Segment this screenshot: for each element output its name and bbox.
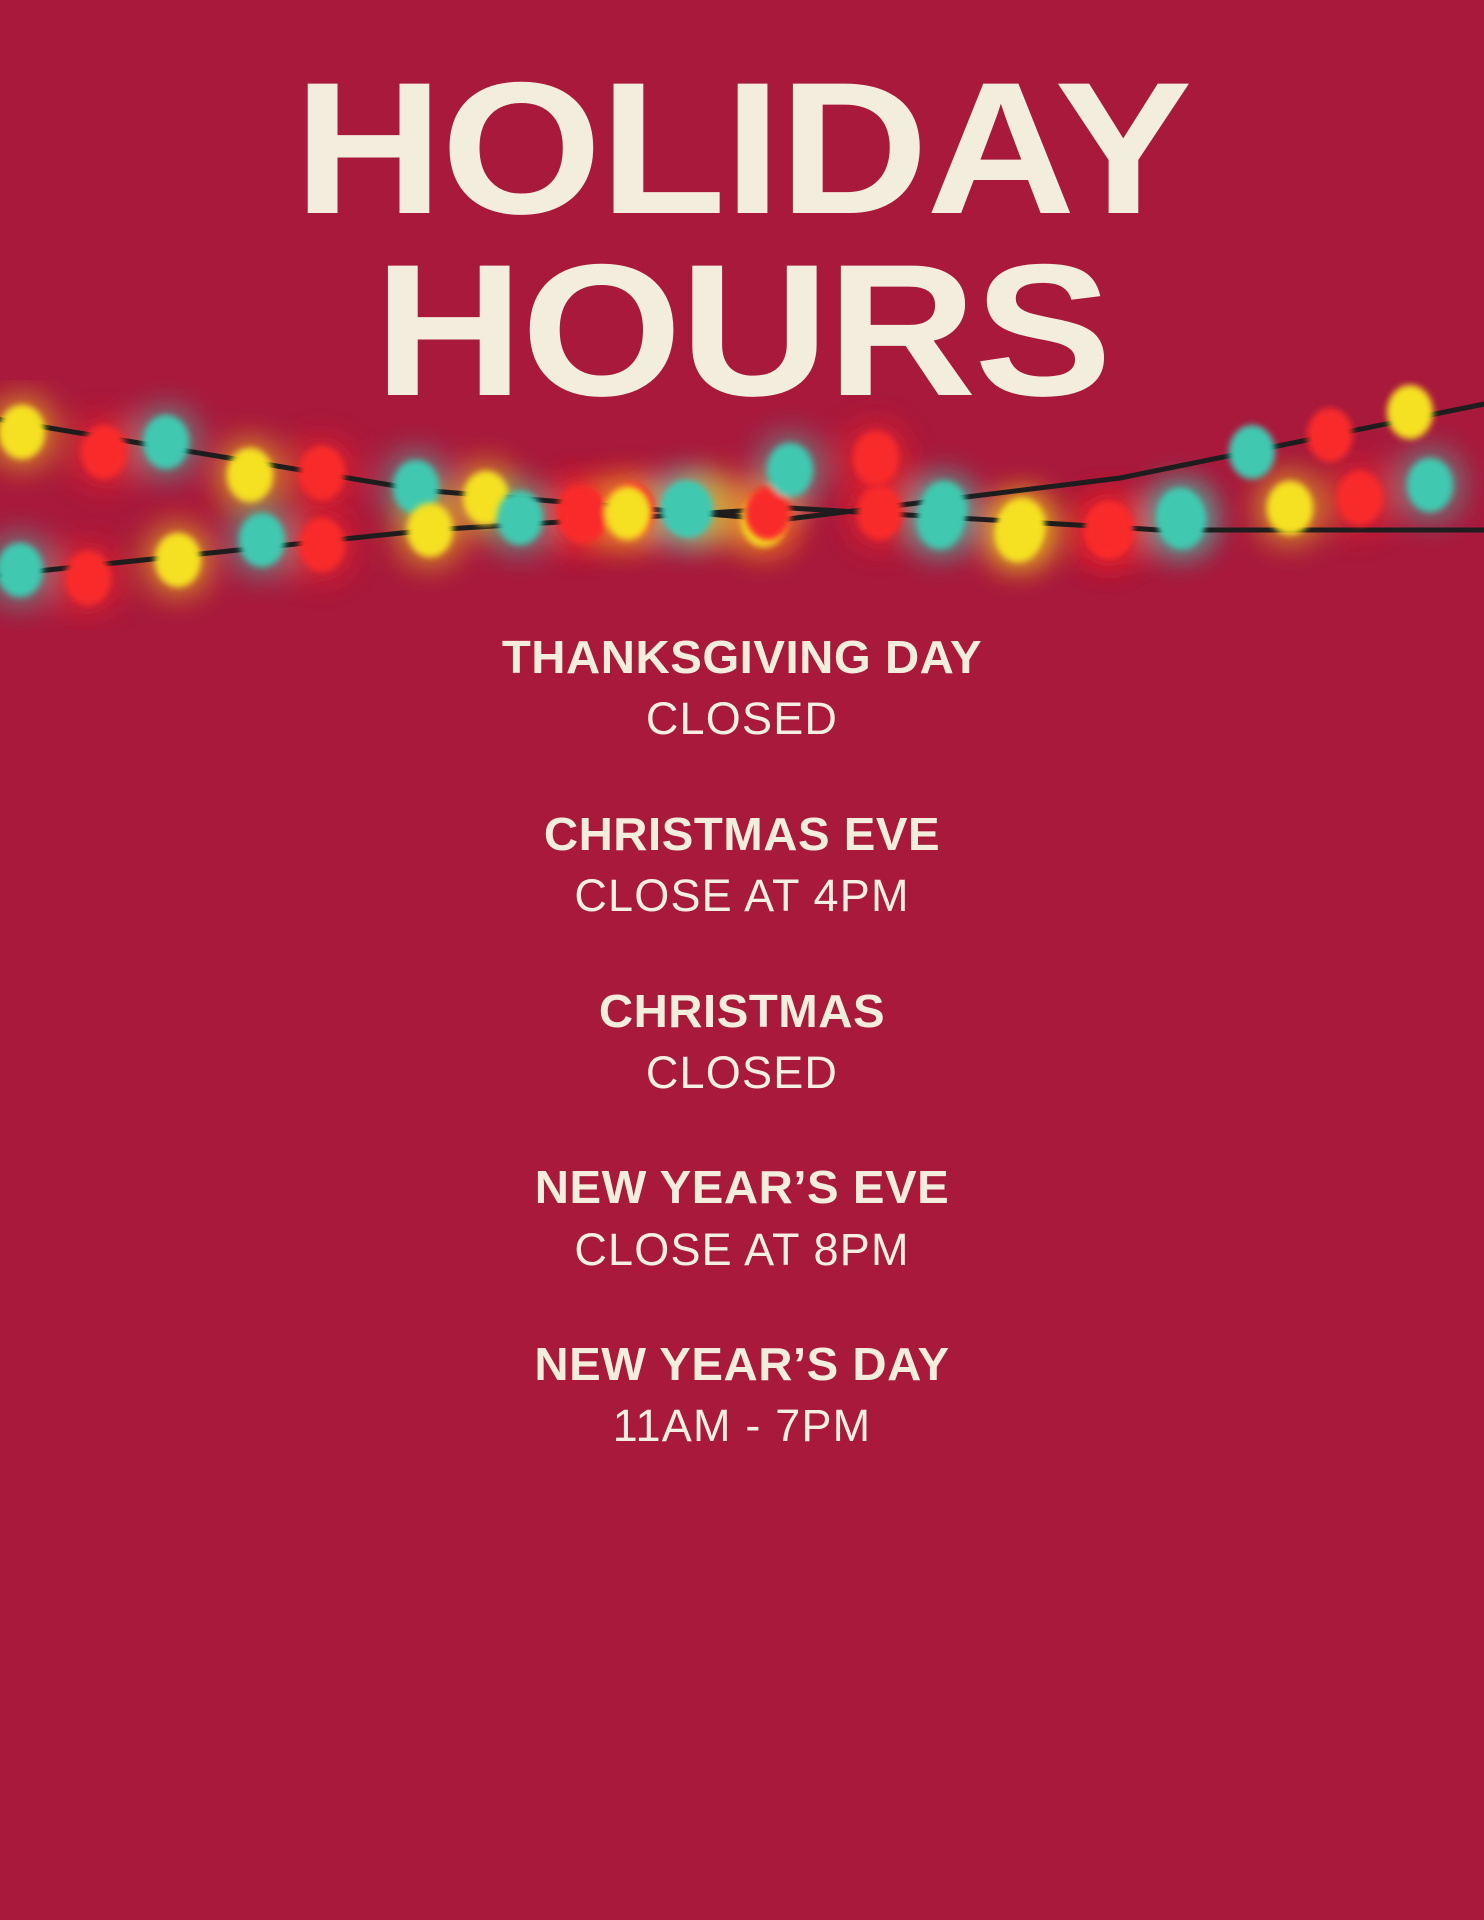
hours-entry-new-years-day: NEW YEAR’S DAY 11AM - 7PM [0,1337,1484,1456]
title-line-holiday: HOLIDAY [0,58,1484,238]
hours-entry-christmas: CHRISTMAS CLOSED [0,984,1484,1103]
holiday-hours-value: 11AM - 7PM [0,1397,1484,1456]
holiday-name: THANKSGIVING DAY [0,630,1484,684]
holiday-name: CHRISTMAS [0,984,1484,1038]
holiday-hours-value: CLOSED [0,1044,1484,1103]
holiday-hours-value: CLOSE AT 8PM [0,1221,1484,1280]
holiday-name: NEW YEAR’S DAY [0,1337,1484,1391]
holiday-hours-value: CLOSE AT 4PM [0,867,1484,926]
hours-entry-thanksgiving: THANKSGIVING DAY CLOSED [0,630,1484,749]
holiday-name: CHRISTMAS EVE [0,807,1484,861]
hours-entry-new-years-eve: NEW YEAR’S EVE CLOSE AT 8PM [0,1160,1484,1279]
holiday-hours-list: THANKSGIVING DAY CLOSED CHRISTMAS EVE CL… [0,630,1484,1456]
holiday-hours-value: CLOSED [0,690,1484,749]
page-title: HOLIDAY HOURS [0,58,1484,421]
hours-entry-christmas-eve: CHRISTMAS EVE CLOSE AT 4PM [0,807,1484,926]
title-line-hours: HOURS [0,240,1484,420]
holiday-name: NEW YEAR’S EVE [0,1160,1484,1214]
holiday-hours-poster: HOLIDAY HOURS [0,0,1484,1920]
